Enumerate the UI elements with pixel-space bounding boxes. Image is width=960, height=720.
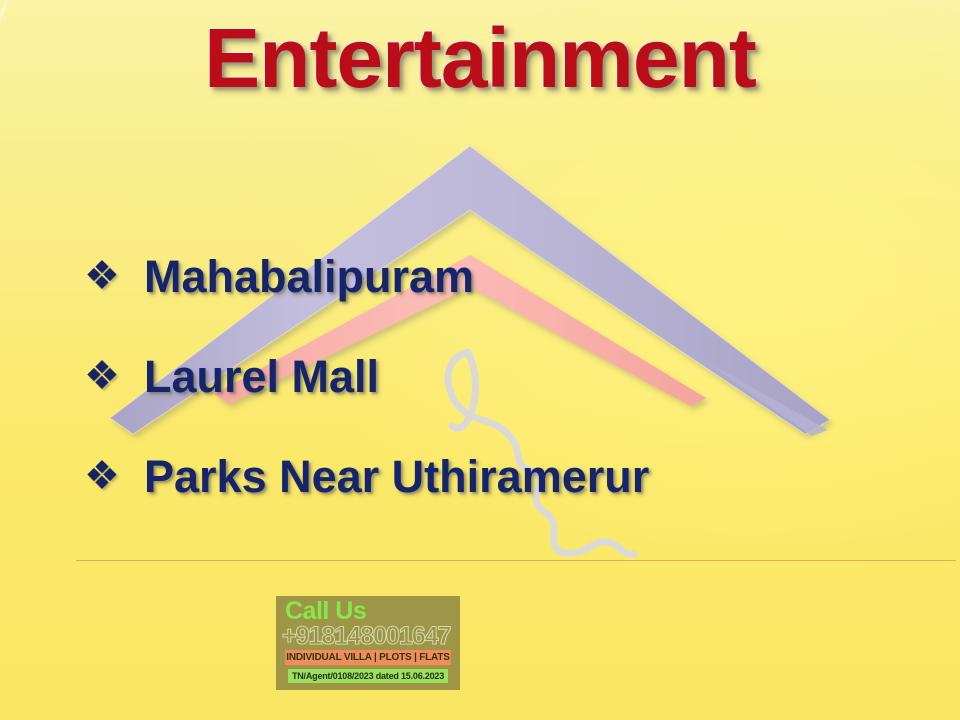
page-title: Entertainment <box>204 14 756 102</box>
list-item-label: Laurel Mall <box>144 354 884 399</box>
license-badge: TN/Agent/0108/2023 dated 15.06.2023 <box>288 669 448 683</box>
footer-divider <box>76 560 956 561</box>
list-item-label: Parks Near Uthiramerur <box>144 454 884 499</box>
list-item[interactable]: ❖ Laurel Mall <box>84 326 884 426</box>
diamond-cluster-bullet-icon: ❖ <box>84 456 144 496</box>
presentation-slide: Entertainment ❖ Mahabalipuram ❖ Laurel M… <box>0 0 960 720</box>
list-item-label: Mahabalipuram <box>144 254 884 299</box>
call-us-card[interactable]: Call Us +918148001647 INDIVIDUAL VILLA |… <box>276 596 460 690</box>
call-us-heading: Call Us <box>285 599 366 624</box>
list-item[interactable]: ❖ Parks Near Uthiramerur <box>84 426 884 526</box>
phone-number[interactable]: +918148001647 <box>282 624 450 649</box>
diamond-cluster-bullet-icon: ❖ <box>84 256 144 296</box>
diamond-cluster-bullet-icon: ❖ <box>84 356 144 396</box>
bullet-list: ❖ Mahabalipuram ❖ Laurel Mall ❖ Parks Ne… <box>84 226 884 526</box>
services-badge: INDIVIDUAL VILLA | PLOTS | FLATS <box>285 650 451 665</box>
title-area: Entertainment <box>0 14 960 102</box>
list-item[interactable]: ❖ Mahabalipuram <box>84 226 884 326</box>
